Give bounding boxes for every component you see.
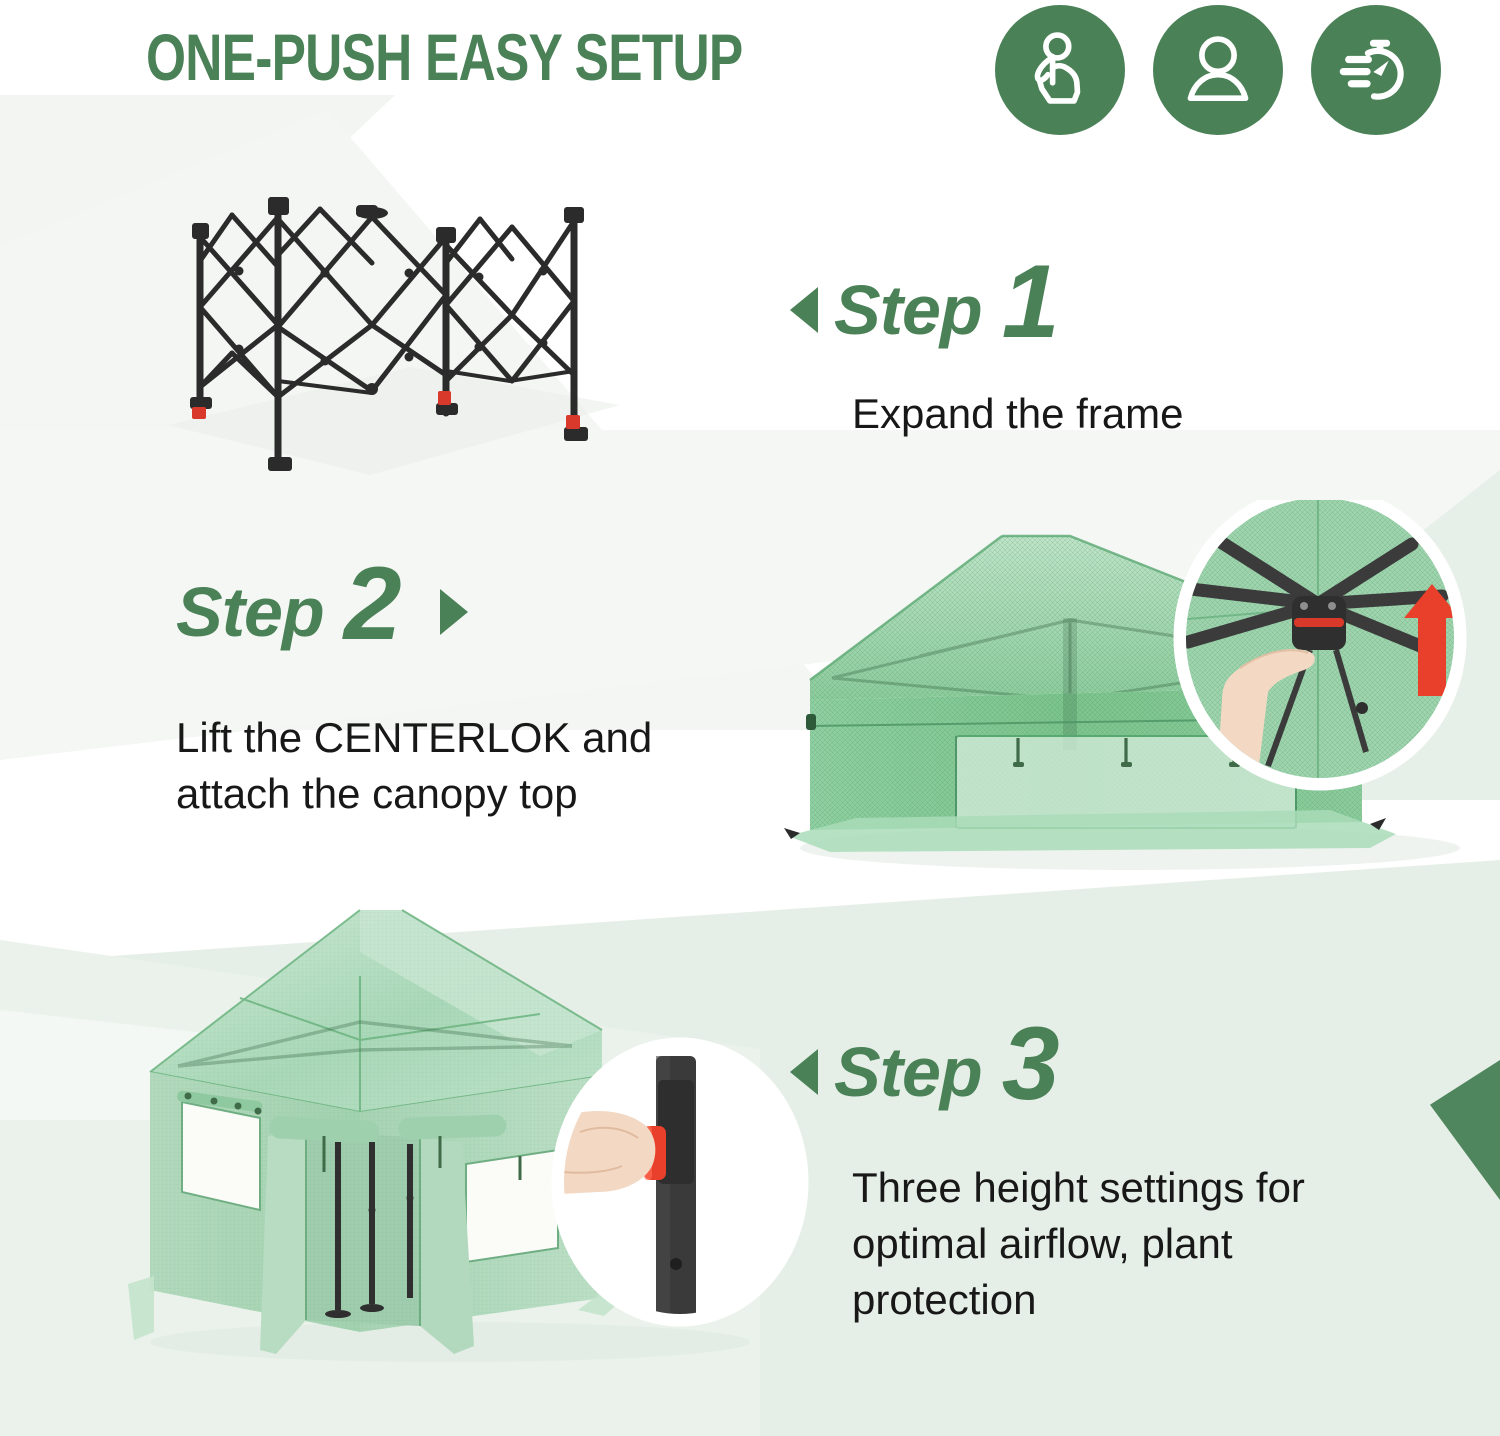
step-1-heading: Step 1 <box>790 268 1060 352</box>
push-hand-icon <box>995 5 1125 135</box>
step-1-number: 1 <box>1002 260 1060 344</box>
centerlok-red-band <box>1294 618 1344 627</box>
step-3-label: Step <box>834 1035 982 1109</box>
page-title: ONE-PUSH EASY SETUP <box>146 18 742 96</box>
window-right <box>466 1150 558 1262</box>
step-3-image-greenhouse <box>110 880 830 1380</box>
chevron-left-icon <box>790 287 818 333</box>
step-1-label: Step <box>834 273 982 347</box>
step-2-image-greenhouse <box>770 500 1500 900</box>
chevron-right-icon <box>440 589 468 635</box>
step-1-body: Expand the frame <box>852 386 1184 442</box>
header: ONE-PUSH EASY SETUP <box>0 0 1500 140</box>
step-3-number: 3 <box>1002 1022 1060 1106</box>
step-2-heading: Step 2 <box>176 570 468 654</box>
fast-stopwatch-icon <box>1311 5 1441 135</box>
step-3-body-line-2: optimal airflow, plant <box>852 1216 1305 1272</box>
step-3-body: Three height settings for optimal airflo… <box>852 1160 1305 1328</box>
step-2-body: Lift the CENTERLOK and attach the canopy… <box>176 710 652 822</box>
step-2-body-line-1: Lift the CENTERLOK and <box>176 710 652 766</box>
step-2-body-line-2: attach the canopy top <box>176 766 652 822</box>
step-2-number: 2 <box>344 562 402 646</box>
single-person-icon <box>1153 5 1283 135</box>
step-2-inset-centerlok <box>1176 500 1466 790</box>
step-2-label: Step <box>176 575 324 649</box>
step-3-body-line-3: protection <box>852 1272 1305 1328</box>
step-3-heading: Step 3 <box>790 1030 1060 1114</box>
chevron-left-icon <box>790 1049 818 1095</box>
step-1-image-frame <box>160 175 630 505</box>
infographic-canvas: ONE-PUSH EASY SETUP <box>0 0 1500 1436</box>
step-3-body-line-1: Three height settings for <box>852 1160 1305 1216</box>
step-3-inset-leg-button <box>556 1042 804 1322</box>
header-icon-group <box>995 5 1441 135</box>
